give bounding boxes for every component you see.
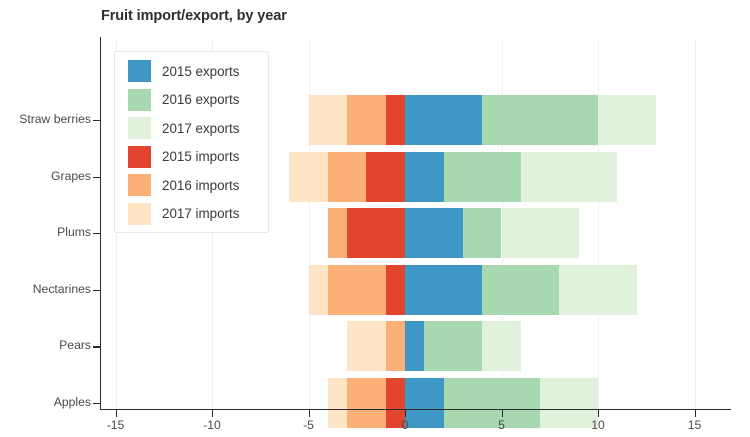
y-axis-tick-label: Grapes — [0, 169, 103, 183]
bar-segment[interactable] — [405, 152, 444, 202]
y-axis-tick-label: Pears — [0, 338, 103, 352]
bar-segment[interactable] — [347, 321, 386, 371]
bar-segment[interactable] — [347, 208, 405, 258]
x-axis-tick-label: 10 — [578, 418, 618, 432]
bar-segment[interactable] — [482, 321, 521, 371]
bar-segment[interactable] — [328, 208, 347, 258]
fruit-import-export-chart: Fruit import/export, by year 2015 export… — [0, 0, 750, 437]
y-axis-tick-label: Straw berries — [0, 112, 103, 126]
x-axis-tick-label: 5 — [482, 418, 522, 432]
bar-row[interactable] — [101, 321, 712, 371]
bar-segment[interactable] — [328, 378, 347, 428]
bar-segment[interactable] — [444, 152, 521, 202]
x-axis-tick-label: -5 — [289, 418, 329, 432]
legend-item-label: 2017 imports — [162, 206, 239, 221]
bar-segment[interactable] — [386, 265, 405, 315]
bar-segment[interactable] — [521, 152, 618, 202]
legend-swatch-icon — [128, 89, 151, 111]
legend-item-label: 2015 imports — [162, 149, 239, 164]
legend-item[interactable]: 2016 exports — [128, 87, 239, 113]
y-axis-tick-label: Apples — [0, 395, 103, 409]
bar-segment[interactable] — [482, 265, 559, 315]
bar-segment[interactable] — [347, 378, 386, 428]
bar-row[interactable] — [101, 265, 712, 315]
bar-segment[interactable] — [386, 95, 405, 145]
y-axis-tick-label: Nectarines — [0, 282, 103, 296]
bar-segment[interactable] — [405, 321, 424, 371]
legend-swatch-icon — [128, 174, 151, 196]
bar-segment[interactable] — [559, 265, 636, 315]
legend-item-label: 2016 imports — [162, 178, 239, 193]
x-axis-tick — [598, 410, 599, 417]
bar-segment[interactable] — [386, 321, 405, 371]
bar-segment[interactable] — [405, 208, 463, 258]
bar-segment[interactable] — [502, 208, 579, 258]
x-axis-tick-label: -15 — [96, 418, 136, 432]
legend-swatch-icon — [128, 146, 151, 168]
bar-segment[interactable] — [463, 208, 502, 258]
legend-item-label: 2016 exports — [162, 92, 239, 107]
x-axis-tick — [212, 410, 213, 417]
legend-item[interactable]: 2016 imports — [128, 172, 239, 198]
bar-segment[interactable] — [424, 321, 482, 371]
legend-swatch-icon — [128, 203, 151, 225]
bar-segment[interactable] — [309, 95, 348, 145]
x-axis-tick-label: -10 — [192, 418, 232, 432]
bar-segment[interactable] — [366, 152, 405, 202]
legend-item-label: 2015 exports — [162, 64, 239, 79]
x-axis-tick — [502, 410, 503, 417]
bar-segment[interactable] — [405, 95, 482, 145]
y-axis-line — [100, 37, 101, 410]
bar-segment[interactable] — [598, 95, 656, 145]
x-axis-tick — [116, 410, 117, 417]
bar-segment[interactable] — [405, 265, 482, 315]
x-axis-tick-label: 0 — [385, 418, 425, 432]
y-axis-tick-label: Plums — [0, 225, 103, 239]
legend-swatch-icon — [128, 117, 151, 139]
x-axis-tick — [405, 410, 406, 417]
bar-segment[interactable] — [309, 265, 328, 315]
bar-segment[interactable] — [347, 95, 386, 145]
legend-item[interactable]: 2015 imports — [128, 144, 239, 170]
x-axis-tick — [309, 410, 310, 417]
legend-item[interactable]: 2017 exports — [128, 115, 239, 141]
bar-segment[interactable] — [328, 265, 386, 315]
x-axis-line — [100, 409, 731, 410]
chart-legend: 2015 exports2016 exports2017 exports2015… — [114, 51, 269, 233]
bar-segment[interactable] — [482, 95, 598, 145]
legend-swatch-icon — [128, 60, 151, 82]
bar-segment[interactable] — [289, 152, 328, 202]
bar-segment[interactable] — [328, 152, 367, 202]
legend-item[interactable]: 2017 imports — [128, 201, 239, 227]
legend-item-label: 2017 exports — [162, 121, 239, 136]
x-axis-tick-label: 15 — [675, 418, 715, 432]
legend-item[interactable]: 2015 exports — [128, 58, 239, 84]
chart-title: Fruit import/export, by year — [101, 8, 287, 24]
x-axis-tick — [695, 410, 696, 417]
